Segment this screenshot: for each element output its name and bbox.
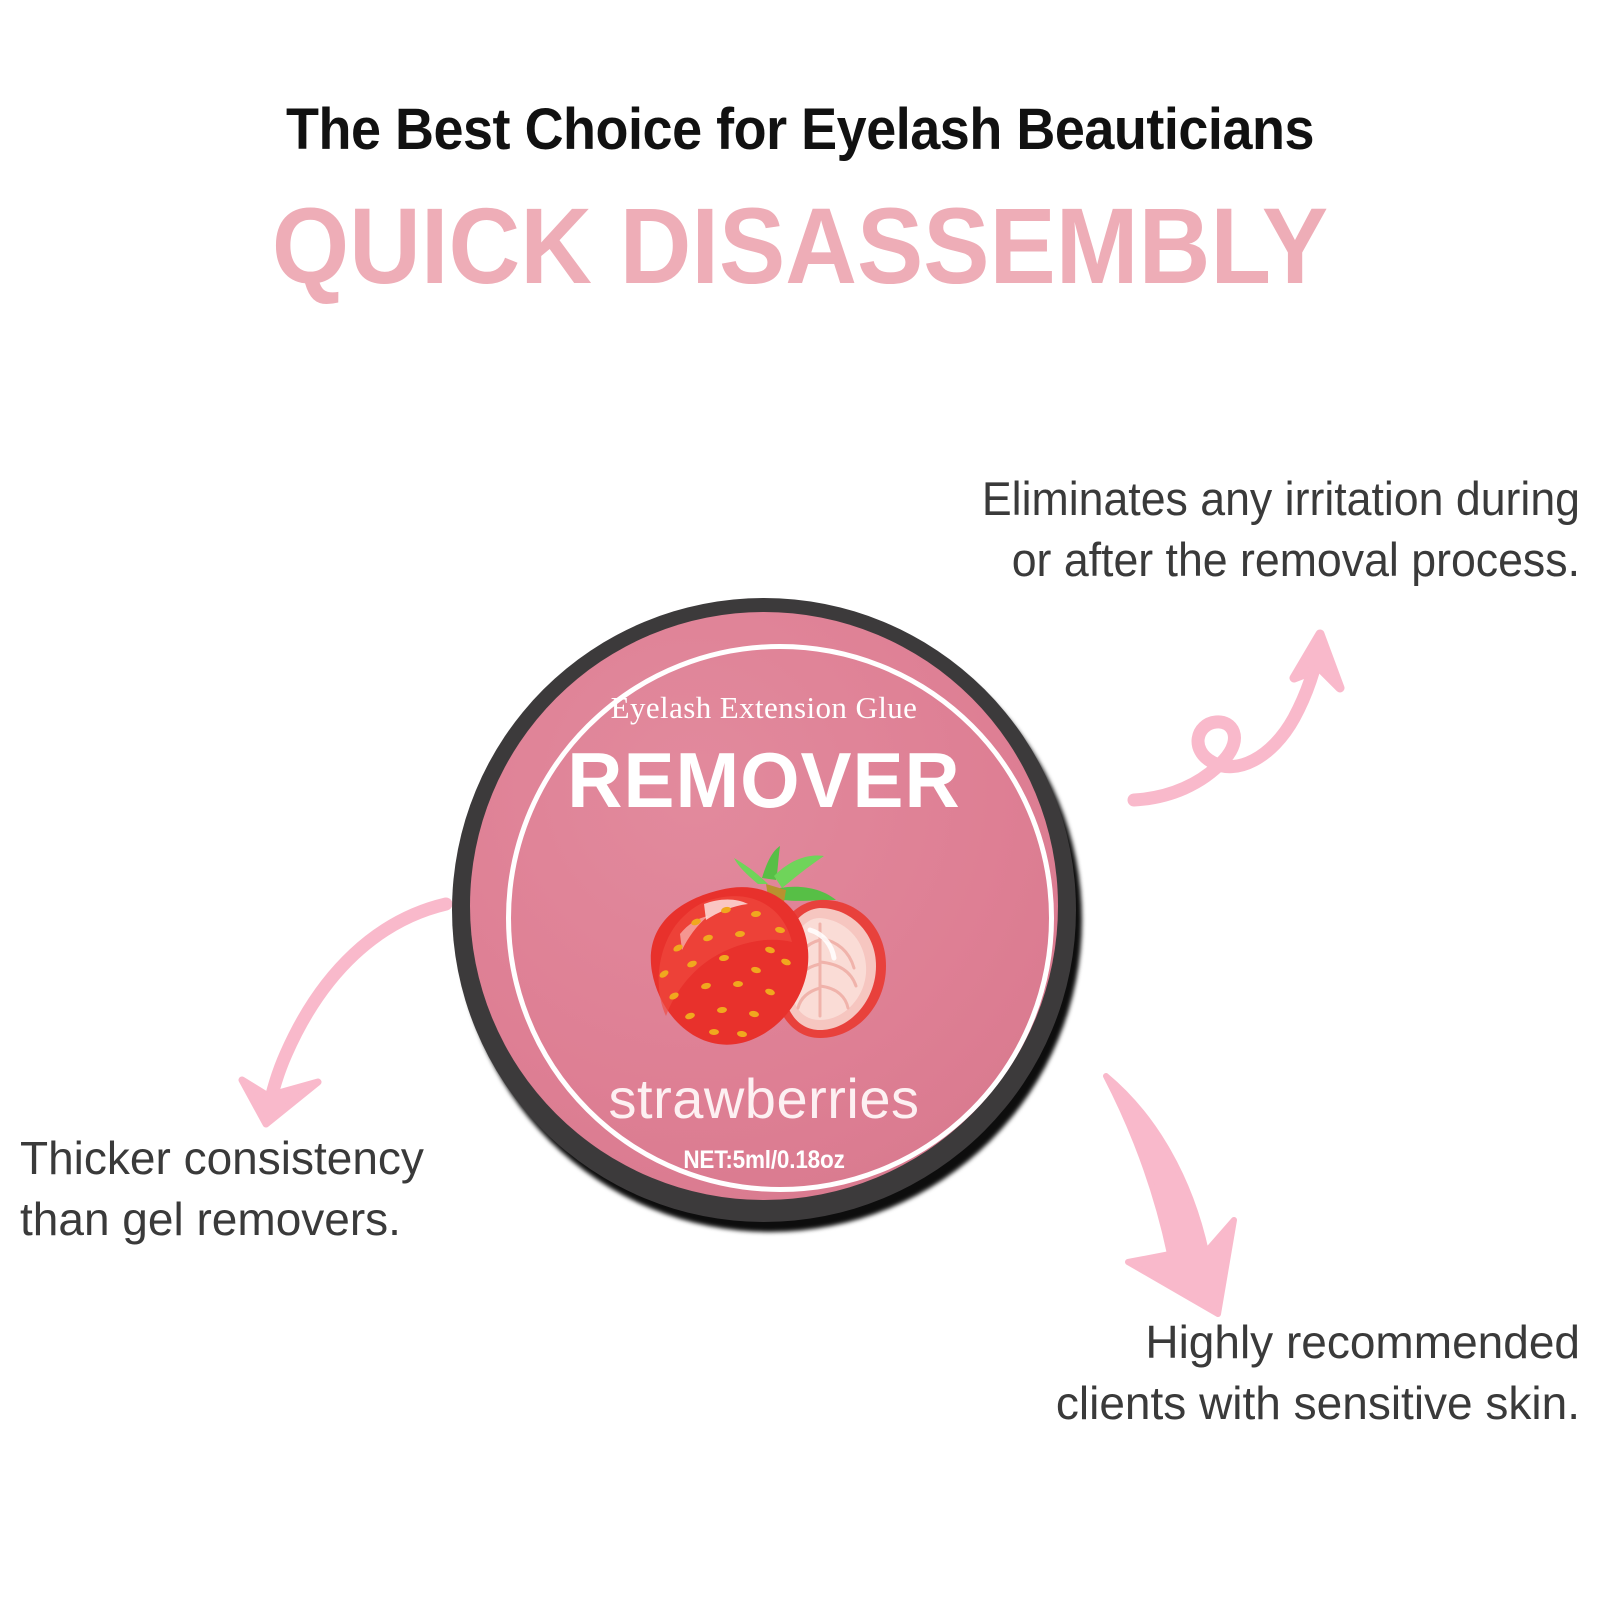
product-label-eyebrow: Eyelash Extension Glue — [452, 690, 1076, 726]
strawberry-illustration-icon — [634, 838, 904, 1053]
product-label-title: REMOVER — [458, 735, 1070, 826]
strawberry-whole — [651, 887, 808, 1045]
page-title: QUICK DISASSEMBLY — [64, 186, 1536, 307]
callout-irritation: Eliminates any irritation during or afte… — [744, 468, 1580, 590]
curved-arrow-down-left-icon — [218, 868, 458, 1128]
infographic-canvas: The Best Choice for Eyelash Beauticians … — [0, 0, 1600, 1600]
callout-sensitive-skin: Highly recommended clients with sensitiv… — [840, 1312, 1580, 1434]
page-eyebrow-heading: The Best Choice for Eyelash Beauticians — [56, 96, 1544, 163]
product-label-flavor: strawberries — [452, 1066, 1076, 1131]
product-label-net-content: NET:5ml/0.18oz — [483, 1146, 1045, 1175]
curly-arrow-up-right-icon — [1128, 598, 1368, 808]
thick-arrow-down-right-icon — [1058, 1038, 1298, 1328]
product-jar: Eyelash Extension Glue REMOVER — [452, 598, 1088, 1238]
